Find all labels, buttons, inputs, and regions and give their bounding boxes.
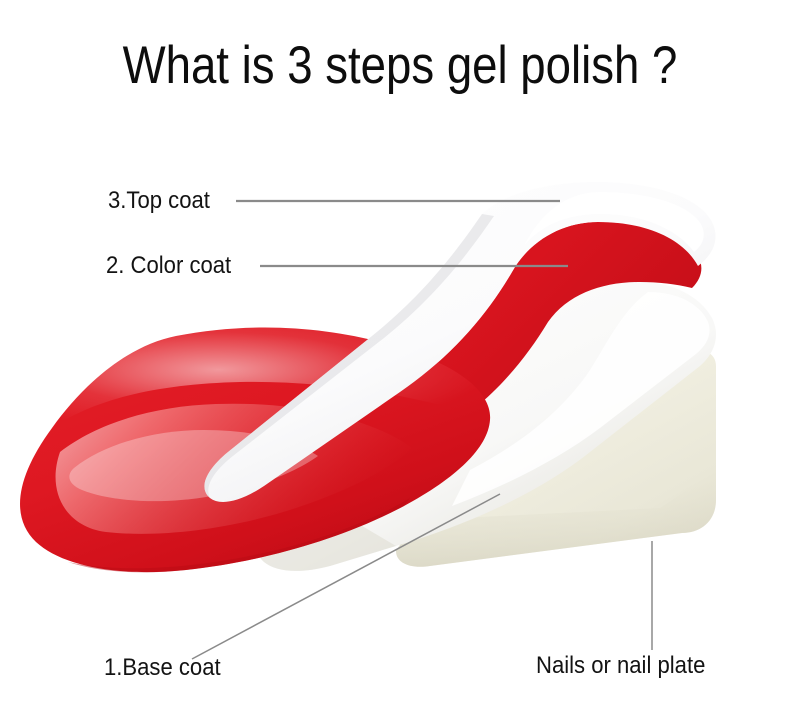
label-top-coat: 3.Top coat bbox=[108, 187, 210, 215]
label-nail-plate: Nails or nail plate bbox=[536, 652, 705, 680]
gel-polish-diagram bbox=[0, 0, 800, 719]
page-title: What is 3 steps gel polish ? bbox=[56, 36, 744, 96]
label-base-coat: 1.Base coat bbox=[104, 654, 221, 682]
diagram-page: What is 3 steps gel polish ? 3.Top coat … bbox=[0, 0, 800, 719]
label-color-coat: 2. Color coat bbox=[106, 252, 231, 280]
